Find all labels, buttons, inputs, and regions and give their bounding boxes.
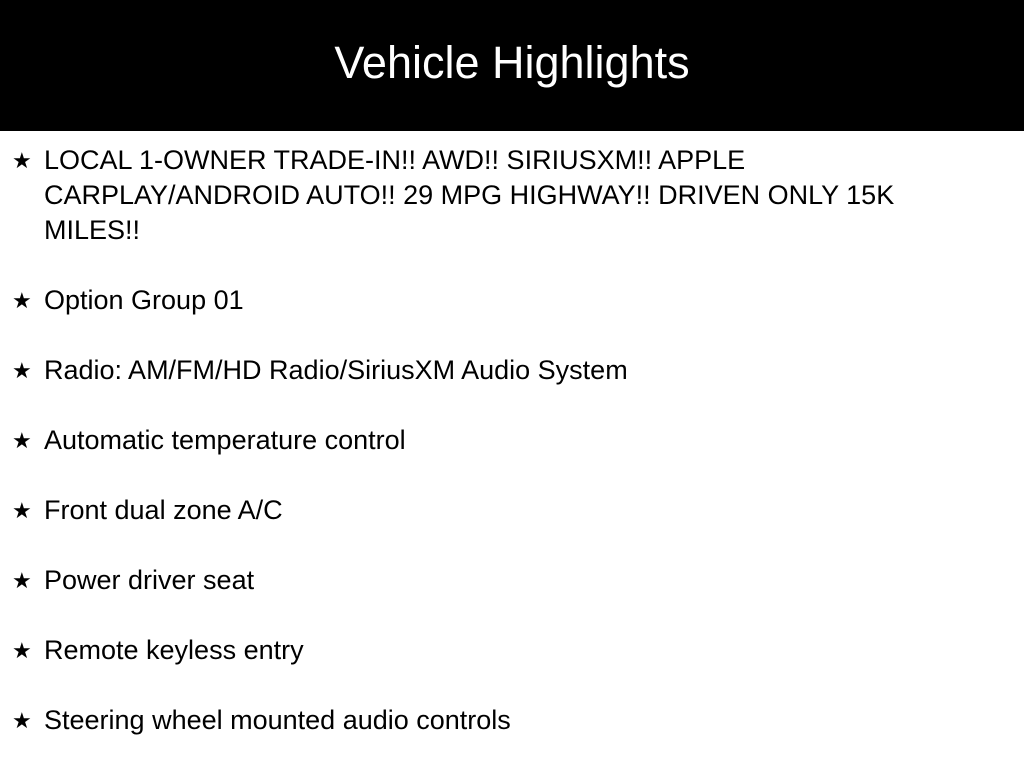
list-item: ★ LOCAL 1-OWNER TRADE-IN!! AWD!! SIRIUSX… <box>0 143 1024 248</box>
star-bullet-icon: ★ <box>12 143 34 178</box>
star-bullet-icon: ★ <box>12 493 34 528</box>
star-bullet-icon: ★ <box>12 423 34 458</box>
star-bullet-icon: ★ <box>12 353 34 388</box>
page-header-band: Vehicle Highlights <box>0 0 1024 131</box>
list-item-label: Steering wheel mounted audio controls <box>44 703 996 738</box>
list-item: ★ Automatic temperature control <box>0 423 1024 458</box>
list-item: ★ Radio: AM/FM/HD Radio/SiriusXM Audio S… <box>0 353 1024 388</box>
list-item: ★ Steering wheel mounted audio controls <box>0 703 1024 738</box>
list-item-label: LOCAL 1-OWNER TRADE-IN!! AWD!! SIRIUSXM!… <box>44 143 996 248</box>
list-item: ★ Option Group 01 <box>0 283 1024 318</box>
list-item-label: Radio: AM/FM/HD Radio/SiriusXM Audio Sys… <box>44 353 996 388</box>
star-bullet-icon: ★ <box>12 703 34 738</box>
list-item-label: Power driver seat <box>44 563 996 598</box>
list-item-label: Automatic temperature control <box>44 423 996 458</box>
star-bullet-icon: ★ <box>12 563 34 598</box>
page-title: Vehicle Highlights <box>334 40 689 85</box>
list-item-label: Option Group 01 <box>44 283 996 318</box>
list-item: ★ Remote keyless entry <box>0 633 1024 668</box>
list-item-label: Front dual zone A/C <box>44 493 996 528</box>
list-item-label: Remote keyless entry <box>44 633 996 668</box>
list-item: ★ Front dual zone A/C <box>0 493 1024 528</box>
vehicle-highlights-page: Vehicle Highlights ★ LOCAL 1-OWNER TRADE… <box>0 0 1024 768</box>
list-item: ★ Power driver seat <box>0 563 1024 598</box>
vehicle-highlights-list: ★ LOCAL 1-OWNER TRADE-IN!! AWD!! SIRIUSX… <box>0 131 1024 738</box>
star-bullet-icon: ★ <box>12 283 34 318</box>
star-bullet-icon: ★ <box>12 633 34 668</box>
